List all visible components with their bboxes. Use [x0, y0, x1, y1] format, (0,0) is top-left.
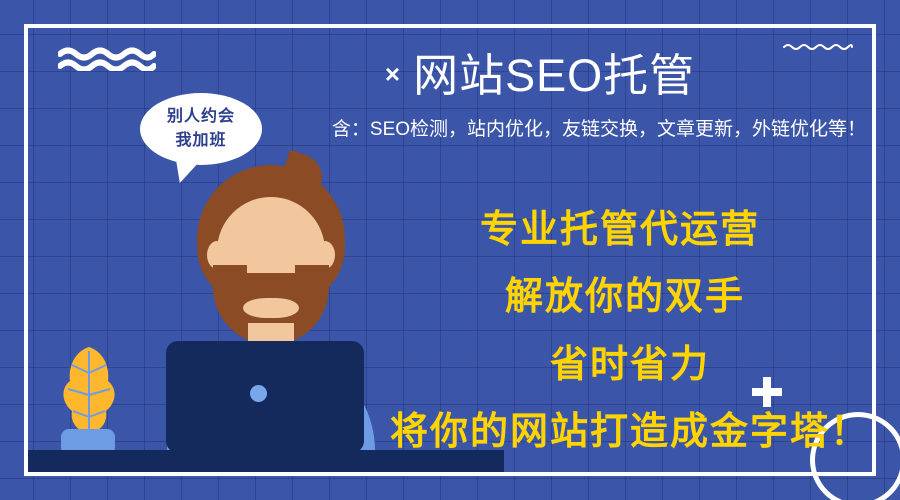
speech-bubble-line-2: 我加班: [140, 129, 262, 153]
desk-shape: [28, 450, 504, 474]
desk-edge-line: [28, 472, 876, 476]
times-icon: ×: [385, 59, 401, 89]
mouth-shape: [243, 298, 299, 318]
speech-bubble-line-1: 别人约会: [140, 105, 262, 129]
selling-point-1: 专业托管代运营: [480, 198, 760, 253]
single-wave-icon: [783, 42, 853, 52]
laptop-logo-icon: [250, 385, 267, 402]
selling-point-3: 省时省力: [550, 333, 710, 388]
speech-bubble-text: 别人约会 我加班: [140, 105, 262, 153]
page-title: ×网站SEO托管: [330, 46, 750, 104]
double-wave-icon: [58, 47, 156, 71]
poster-canvas: ×网站SEO托管 含：SEO检测，站内优化，友链交换，文章更新，外链优化等！ 专…: [0, 0, 900, 500]
selling-point-4: 将你的网站打造成金字塔！: [390, 400, 870, 455]
laptop-illustration: [166, 341, 364, 453]
leaf-icon: [58, 345, 120, 437]
page-subtitle: 含：SEO检测，站内优化，友链交换，文章更新，外链优化等！: [318, 116, 880, 144]
page-title-text: 网站SEO托管: [413, 50, 695, 101]
selling-point-2: 解放你的双手: [505, 265, 745, 320]
